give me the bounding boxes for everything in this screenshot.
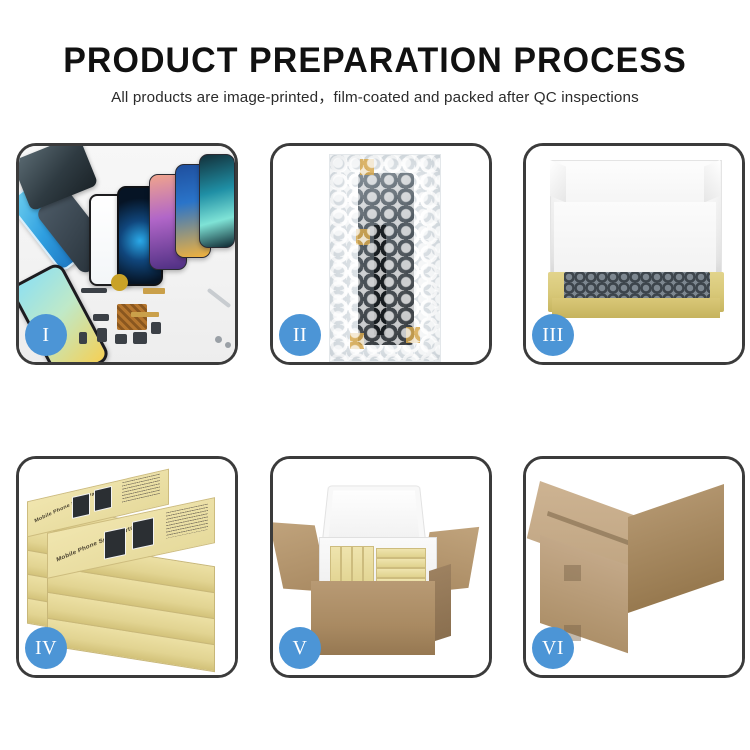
panel-stacked-boxes: Mobile Phone Spare Parts Mobile Phone Sp…: [16, 456, 238, 678]
box-print-thumb-back-1: [72, 493, 90, 519]
inner-box-5: [376, 548, 426, 558]
tweezers-icon: [207, 288, 232, 308]
step-badge-2: II: [279, 314, 321, 356]
box-print-text-lines-front: [166, 504, 208, 539]
box-print-brand-back: Mobile Phone Spare Parts: [34, 488, 102, 524]
component-connector-a: [93, 314, 109, 321]
component-speaker: [133, 332, 147, 344]
carton-front-panel: [311, 581, 435, 655]
panel-sealed-carton: VI: [523, 456, 745, 678]
panel-bubble-wrap: II: [270, 143, 492, 365]
component-copper-grid: [117, 304, 147, 330]
component-connector-c: [115, 334, 127, 344]
process-step-grid: I II: [0, 0, 750, 750]
carton-right-face: [628, 484, 724, 613]
step-badge-1: I: [25, 314, 67, 356]
step-badge-5: V: [279, 627, 321, 669]
panel-inner-box: III: [523, 143, 745, 365]
bubble-texture-overlay: [330, 155, 440, 361]
bubble-wrapped-contents: [564, 272, 710, 300]
foam-sheet: [554, 202, 716, 276]
component-camera-module: [151, 322, 161, 334]
inner-box-7: [376, 568, 426, 578]
box-print-thumb-back-2: [94, 486, 112, 512]
bubble-bag: [329, 154, 441, 362]
component-screw-a: [215, 336, 222, 343]
panel-products: I: [16, 143, 238, 365]
step-badge-6: VI: [532, 627, 574, 669]
carton-tab-upper: [564, 565, 581, 581]
box-lid-flap-right: [704, 160, 720, 202]
component-bar-black: [81, 288, 107, 293]
phone-screen-teal: [199, 154, 235, 248]
foam-lid: [322, 486, 427, 545]
component-gold-disc: [111, 274, 128, 291]
component-sim-tray: [79, 332, 87, 344]
component-connector-b: [97, 328, 107, 342]
component-flex-cable-b: [131, 312, 159, 317]
inner-box-6: [376, 558, 426, 568]
box-print-thumb-front-2: [132, 517, 154, 550]
step-badge-3: III: [532, 314, 574, 356]
box-lid-flap-left: [550, 160, 566, 202]
component-flex-cable-a: [143, 288, 165, 294]
box-base-front-panel: [552, 298, 720, 318]
box-print-thumb-front-1: [104, 527, 126, 560]
box-print-text-lines-back: [122, 474, 160, 505]
panel-foam-carton: V: [270, 456, 492, 678]
component-screw-b: [225, 342, 231, 348]
step-badge-4: IV: [25, 627, 67, 669]
